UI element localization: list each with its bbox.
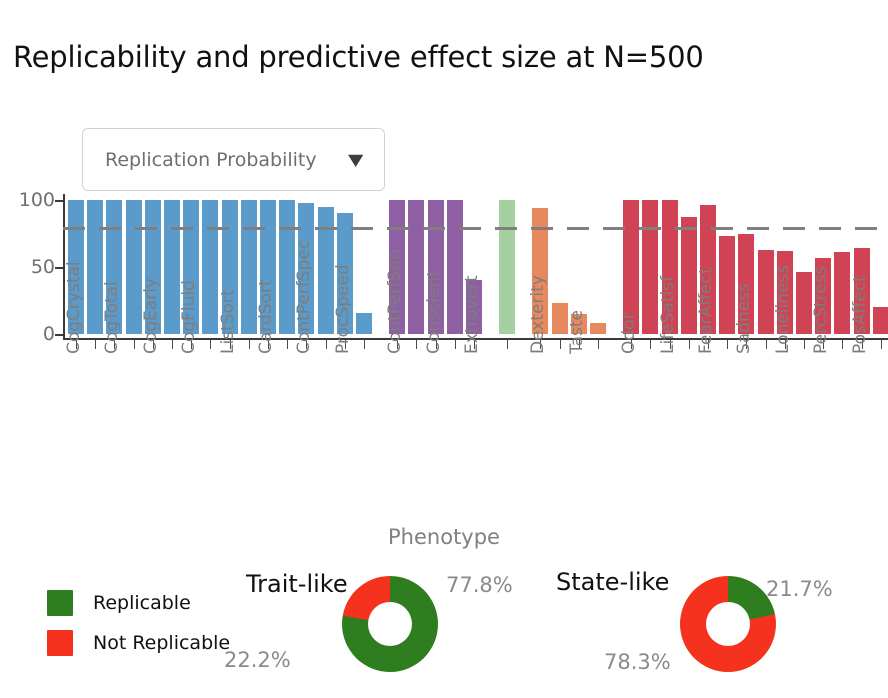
threshold-line-dash xyxy=(675,227,697,230)
x-axis-tick-label: CogTotal xyxy=(102,281,122,354)
legend: ReplicableNot Replicable xyxy=(47,590,230,670)
y-axis-tick-mark xyxy=(55,334,64,336)
x-axis-tick-label: Extrovert xyxy=(462,275,482,354)
x-axis-tick-label: Conscient xyxy=(424,270,444,354)
bar[interactable] xyxy=(642,200,658,334)
bar[interactable] xyxy=(279,200,295,334)
donut-replicable-percent: 77.8% xyxy=(446,573,513,597)
donut-ring xyxy=(342,576,438,672)
bar[interactable] xyxy=(408,200,424,334)
x-axis-tick-label: PosAffect xyxy=(850,275,870,354)
chevron-down-icon: ▼ xyxy=(348,152,368,168)
threshold-line-dash xyxy=(603,227,625,230)
threshold-line-dash xyxy=(135,227,157,230)
x-axis-tick-label: CogEarly xyxy=(141,278,161,354)
threshold-line-dash xyxy=(567,227,589,230)
threshold-line-dash xyxy=(387,227,409,230)
x-axis-tick xyxy=(507,340,508,349)
threshold-line-dash xyxy=(783,227,805,230)
y-axis-tick-mark xyxy=(55,200,64,202)
x-axis-tick xyxy=(560,340,561,349)
x-axis-tick-label: LifeSatisf xyxy=(658,276,678,354)
threshold-line-dash xyxy=(711,227,733,230)
x-axis-tick-label: Sadness xyxy=(734,283,754,354)
x-axis-tick xyxy=(95,340,96,349)
x-axis-tick xyxy=(727,340,728,349)
donut-replicable-percent: 21.7% xyxy=(766,577,833,601)
legend-swatch xyxy=(47,630,73,656)
bar[interactable] xyxy=(164,200,180,334)
x-axis-tick xyxy=(249,340,250,349)
x-axis-tick-label: PercStress xyxy=(811,266,831,354)
bar[interactable] xyxy=(681,217,697,334)
bar[interactable] xyxy=(590,323,606,334)
x-axis-tick-label: ContPerfSen xyxy=(385,249,405,354)
donut-title: State-like xyxy=(556,568,669,596)
threshold-line-dash xyxy=(819,227,841,230)
bar[interactable] xyxy=(87,200,103,334)
bar[interactable] xyxy=(873,307,888,334)
x-axis-tick xyxy=(766,340,767,349)
x-axis-tick xyxy=(416,340,417,349)
x-axis-tick xyxy=(364,340,365,349)
threshold-line-dash xyxy=(243,227,265,230)
x-axis-tick xyxy=(650,340,651,349)
x-axis-tick-label: Odor xyxy=(619,312,639,354)
bar[interactable] xyxy=(318,207,334,334)
threshold-line-dash xyxy=(279,227,301,230)
x-axis-tick xyxy=(689,340,690,349)
threshold-line-dash xyxy=(63,227,85,230)
donut-not-replicable-percent: 22.2% xyxy=(224,648,291,672)
legend-item[interactable]: Replicable xyxy=(47,590,230,616)
threshold-line-dash xyxy=(171,227,193,230)
bar[interactable] xyxy=(552,303,568,334)
bar[interactable] xyxy=(126,200,142,334)
bar[interactable] xyxy=(719,236,735,334)
bar[interactable] xyxy=(447,200,463,334)
threshold-line-dash xyxy=(639,227,661,230)
bar[interactable] xyxy=(499,200,515,334)
threshold-line-dash xyxy=(351,227,373,230)
threshold-line-dash xyxy=(207,227,229,230)
legend-swatch xyxy=(47,590,73,616)
donut-ring xyxy=(680,576,776,672)
x-axis-tick-label: Dexterity xyxy=(528,275,548,354)
bar[interactable] xyxy=(758,250,774,334)
x-axis-tick xyxy=(172,340,173,349)
threshold-line-dash xyxy=(855,227,877,230)
threshold-line-dash xyxy=(531,227,553,230)
bar[interactable] xyxy=(202,200,218,334)
metric-dropdown[interactable]: Replication Probability ▼ xyxy=(82,128,385,191)
x-axis-tick xyxy=(455,340,456,349)
metric-dropdown-value: Replication Probability xyxy=(105,149,350,171)
bar[interactable] xyxy=(834,252,850,334)
x-axis-tick-label: ListSort xyxy=(218,289,238,354)
threshold-line-dash xyxy=(99,227,121,230)
x-axis-tick-label: Taste xyxy=(567,310,587,354)
bar[interactable] xyxy=(241,200,257,334)
threshold-line-dash xyxy=(423,227,445,230)
x-axis-tick-label: CogFluid xyxy=(179,280,199,354)
bar[interactable] xyxy=(356,313,372,334)
x-axis-tick xyxy=(210,340,211,349)
x-axis-tick-label: FearAffect xyxy=(696,267,716,354)
x-axis-tick xyxy=(134,340,135,349)
bar[interactable] xyxy=(796,272,812,334)
threshold-line-dash xyxy=(315,227,337,230)
x-axis-tick xyxy=(804,340,805,349)
donut-title: Trait-like xyxy=(246,570,348,598)
x-axis-tick-label: Loneliness xyxy=(773,265,793,354)
donut-not-replicable-percent: 78.3% xyxy=(604,650,671,674)
x-axis-tick-label: ProcSpeed xyxy=(333,264,353,354)
x-axis-tick xyxy=(881,340,882,349)
x-axis-tick-label: CogCrystal xyxy=(64,261,84,354)
threshold-line-dash xyxy=(747,227,769,230)
legend-item[interactable]: Not Replicable xyxy=(47,630,230,656)
legend-label: Replicable xyxy=(93,592,191,614)
x-axis-tick xyxy=(326,340,327,349)
x-axis-tick xyxy=(598,340,599,349)
x-axis-tick xyxy=(287,340,288,349)
y-axis-tick-mark xyxy=(55,267,64,269)
threshold-line-dash xyxy=(495,227,517,230)
x-axis-tick-label: CardSort xyxy=(256,279,276,354)
x-axis-tick-label: ContPerfSpec xyxy=(294,240,314,354)
legend-label: Not Replicable xyxy=(93,632,230,654)
x-axis-tick xyxy=(842,340,843,349)
threshold-line-dash xyxy=(459,227,481,230)
x-axis-title: Phenotype xyxy=(0,525,888,549)
